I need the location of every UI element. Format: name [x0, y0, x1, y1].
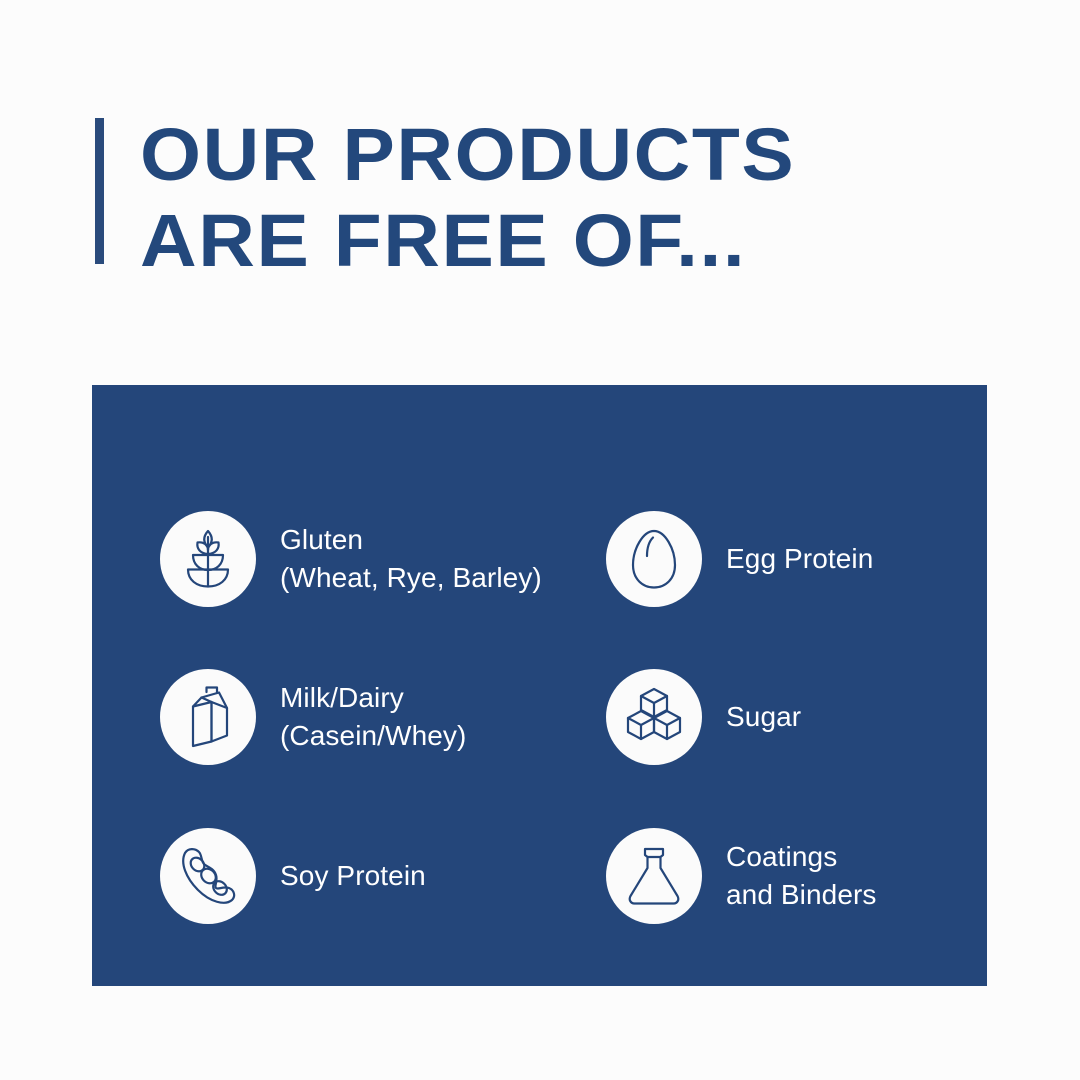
wheat-stalk-icon	[179, 528, 237, 590]
item-label-line-1: Coatings	[726, 838, 877, 876]
item-label: Gluten (Wheat, Rye, Barley)	[280, 521, 542, 597]
heading-text: OUR PRODUCTS ARE FREE OF...	[140, 118, 758, 278]
egg-icon	[630, 528, 678, 590]
free-from-panel: Gluten (Wheat, Rye, Barley) Egg Protein	[92, 385, 987, 986]
item-label: Sugar	[726, 698, 801, 736]
item-label-line-1: Gluten	[280, 521, 542, 559]
item-gluten: Gluten (Wheat, Rye, Barley)	[160, 479, 606, 638]
item-coatings-binders: Coatings and Binders	[606, 796, 960, 956]
icon-badge	[606, 511, 702, 607]
item-label-line-1: Milk/Dairy	[280, 679, 466, 717]
item-label-line-2: (Casein/Whey)	[280, 717, 466, 755]
item-label: Egg Protein	[726, 540, 873, 578]
icon-badge	[160, 511, 256, 607]
item-label-line-2: and Binders	[726, 876, 877, 914]
icon-badge	[160, 669, 256, 765]
item-label: Milk/Dairy (Casein/Whey)	[280, 679, 466, 755]
item-label: Soy Protein	[280, 857, 426, 895]
heading-line-2: ARE FREE OF...	[140, 204, 795, 278]
item-label-line-1: Soy Protein	[280, 857, 426, 895]
item-label: Coatings and Binders	[726, 838, 877, 914]
item-label-line-1: Sugar	[726, 698, 801, 736]
sugar-cubes-icon	[624, 687, 684, 747]
flask-icon	[626, 846, 682, 906]
item-soy-protein: Soy Protein	[160, 796, 606, 956]
item-egg-protein: Egg Protein	[606, 479, 960, 638]
item-sugar: Sugar	[606, 638, 960, 796]
page-heading: OUR PRODUCTS ARE FREE OF...	[95, 118, 758, 278]
item-milk-dairy: Milk/Dairy (Casein/Whey)	[160, 638, 606, 796]
icon-badge	[606, 828, 702, 924]
soybean-pod-icon	[177, 845, 239, 907]
free-from-items-grid: Gluten (Wheat, Rye, Barley) Egg Protein	[160, 479, 960, 956]
milk-carton-icon	[182, 686, 234, 748]
icon-badge	[160, 828, 256, 924]
heading-line-1: OUR PRODUCTS	[140, 118, 795, 192]
heading-accent-bar	[95, 118, 104, 264]
item-label-line-2: (Wheat, Rye, Barley)	[280, 559, 542, 597]
item-label-line-1: Egg Protein	[726, 540, 873, 578]
icon-badge	[606, 669, 702, 765]
